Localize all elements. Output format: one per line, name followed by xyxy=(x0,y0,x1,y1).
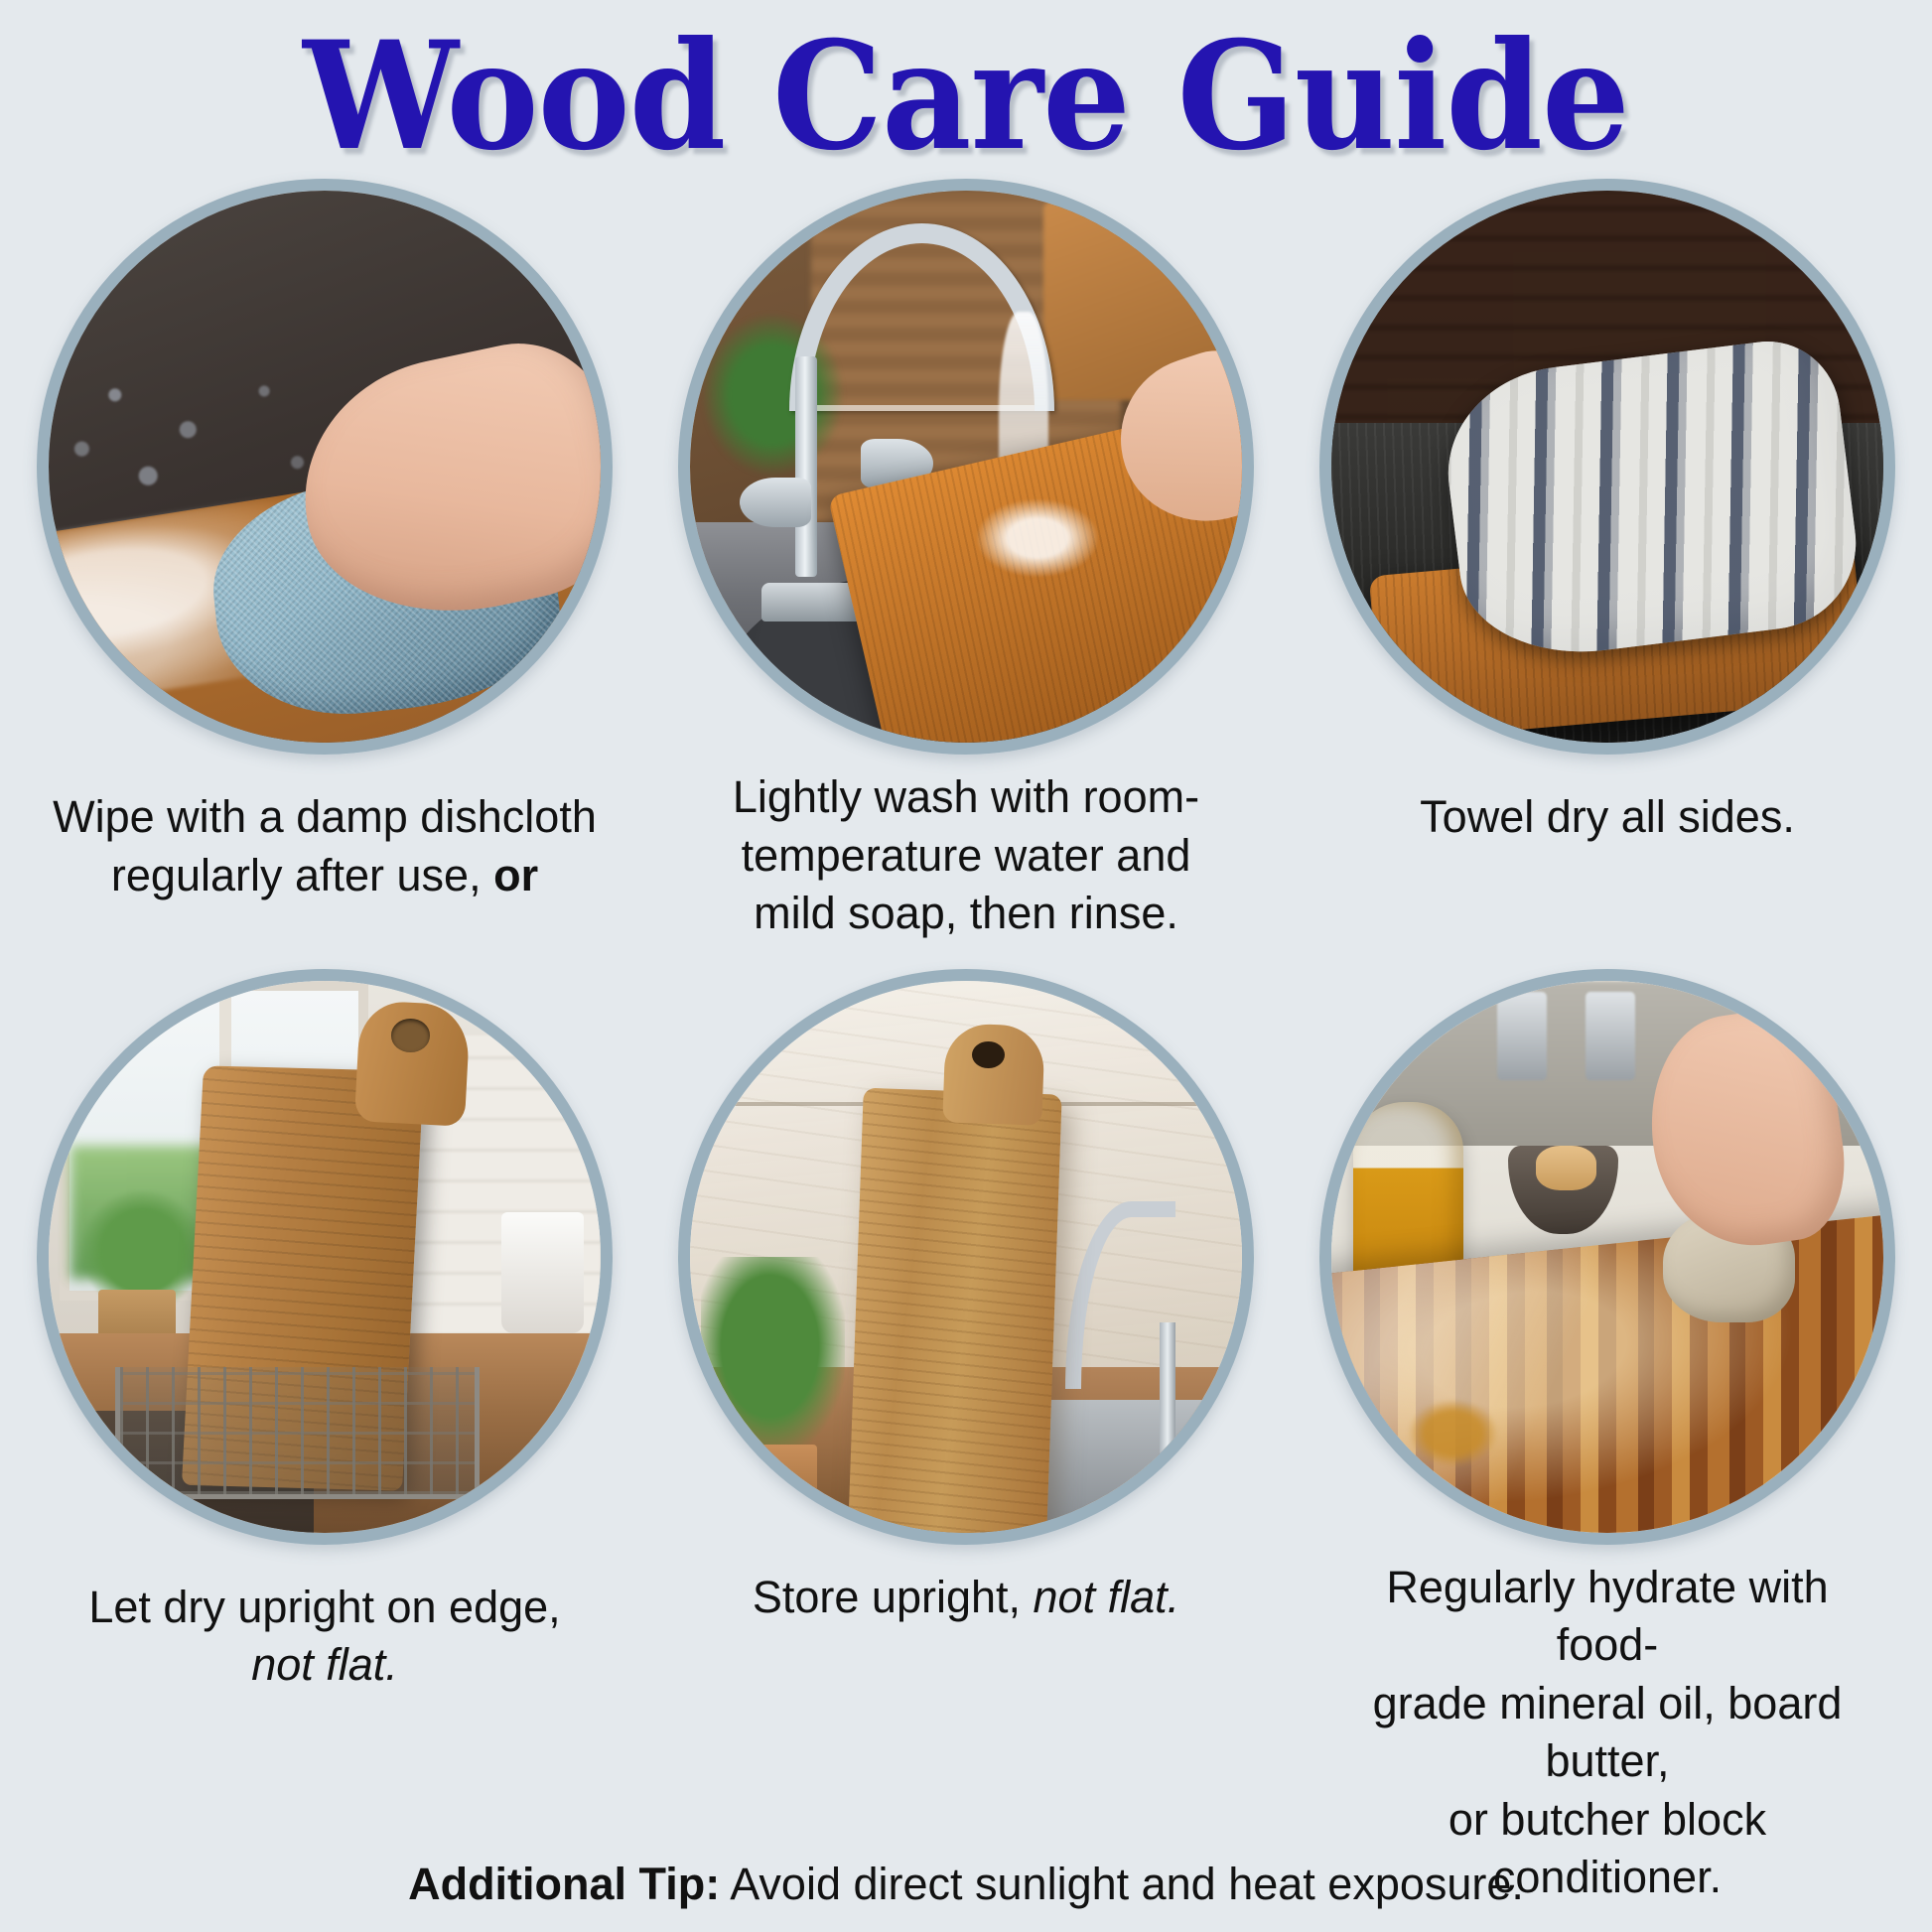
step-card-wash: Lightly wash with room- temperature wate… xyxy=(673,179,1259,943)
caption-line-3: mild soap, then rinse. xyxy=(754,888,1178,938)
wire-basket xyxy=(115,1367,480,1499)
cutting-board xyxy=(848,1087,1062,1532)
oil-drip xyxy=(1409,1400,1497,1466)
caption-line-1: Store upright, xyxy=(753,1572,1034,1622)
caption-line-1: Let dry upright on edge, xyxy=(88,1582,560,1632)
board-hanging-hole xyxy=(391,1019,430,1051)
caption-emphasis: not flat. xyxy=(251,1639,398,1690)
caption-line-2: grade mineral oil, board butter, xyxy=(1373,1678,1843,1787)
step-image-towel-dry xyxy=(1319,179,1895,755)
scene-oil-board xyxy=(1331,981,1883,1533)
additional-tip-label: Additional Tip: xyxy=(408,1859,720,1909)
scene-store-upright xyxy=(690,981,1242,1533)
step-caption-wipe: Wipe with a damp dishcloth regularly aft… xyxy=(47,788,603,904)
faucet-column xyxy=(1160,1322,1175,1454)
scene-towel-dry xyxy=(1331,191,1883,743)
additional-tip: Additional Tip: Avoid direct sunlight an… xyxy=(0,1859,1932,1910)
potted-plant xyxy=(701,1257,845,1455)
board-butter xyxy=(1536,1146,1596,1189)
step-card-store-upright: Store upright, not flat. xyxy=(673,969,1259,1907)
step-card-dry-upright: Let dry upright on edge, not flat. xyxy=(32,969,618,1907)
steps-row-top: Wipe with a damp dishcloth regularly aft… xyxy=(0,179,1932,943)
step-image-hydrate xyxy=(1319,969,1895,1545)
step-image-wash xyxy=(678,179,1254,755)
caption-line-1: Wipe with a damp dishcloth xyxy=(53,791,597,842)
step-caption-towel-dry: Towel dry all sides. xyxy=(1329,788,1885,847)
caption-line-1: Regularly hydrate with food- xyxy=(1386,1562,1828,1671)
cabinet-knob xyxy=(1497,992,1547,1080)
caption-emphasis: or xyxy=(493,850,538,900)
faucet-handle-left xyxy=(740,478,811,527)
faucet-column xyxy=(795,356,817,577)
step-image-dry-upright xyxy=(37,969,613,1545)
caption-emphasis: not flat. xyxy=(1034,1572,1180,1622)
board-hanging-hole xyxy=(972,1041,1005,1069)
scene-rinse-faucet xyxy=(690,191,1242,743)
step-card-hydrate: Regularly hydrate with food- grade miner… xyxy=(1314,969,1900,1907)
striped-towel-icon xyxy=(1437,333,1866,666)
scene-dry-upright-basket xyxy=(49,981,601,1533)
step-caption-dry-upright: Let dry upright on edge, not flat. xyxy=(47,1579,603,1695)
caption-line-2: temperature water and xyxy=(742,830,1191,881)
caption-line-1: Towel dry all sides. xyxy=(1420,791,1795,842)
utensil-crock xyxy=(501,1212,584,1333)
step-image-store-upright xyxy=(678,969,1254,1545)
plant-pot xyxy=(729,1445,817,1522)
steps-grid: Wipe with a damp dishcloth regularly aft… xyxy=(0,179,1932,1907)
caption-line-1: Lightly wash with room- xyxy=(733,771,1199,822)
caption-line-2: regularly after use, xyxy=(111,850,493,900)
cabinet-knob xyxy=(1586,992,1635,1080)
water-splash xyxy=(977,499,1098,577)
step-card-wipe: Wipe with a damp dishcloth regularly aft… xyxy=(32,179,618,943)
step-caption-wash: Lightly wash with room- temperature wate… xyxy=(688,768,1244,943)
scene-wipe-dishcloth xyxy=(49,191,601,743)
board-handle xyxy=(942,1023,1045,1126)
page-title: Wood Care Guide xyxy=(68,0,1864,164)
step-caption-store-upright: Store upright, not flat. xyxy=(688,1569,1244,1627)
step-image-wipe xyxy=(37,179,613,755)
step-card-towel-dry: Towel dry all sides. xyxy=(1314,179,1900,943)
step-caption-hydrate: Regularly hydrate with food- grade miner… xyxy=(1329,1559,1885,1907)
additional-tip-text: Avoid direct sunlight and heat exposure. xyxy=(720,1859,1524,1909)
steps-row-bottom: Let dry upright on edge, not flat. xyxy=(0,969,1932,1907)
